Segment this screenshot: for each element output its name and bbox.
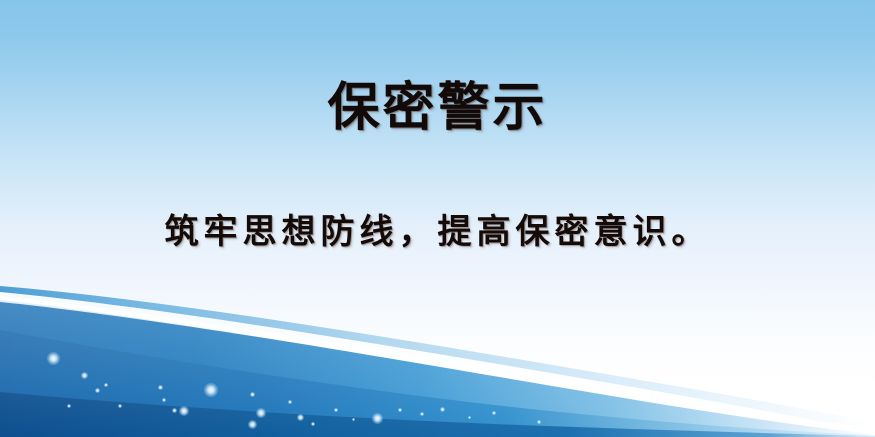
slogan-text: 筑牢思想防线，提高保密意识。: [0, 210, 875, 254]
text-content: 保密警示 筑牢思想防线，提高保密意识。: [0, 0, 875, 300]
confidentiality-warning-banner: 保密警示 筑牢思想防线，提高保密意识。: [0, 0, 875, 437]
page-title: 保密警示: [0, 78, 875, 138]
